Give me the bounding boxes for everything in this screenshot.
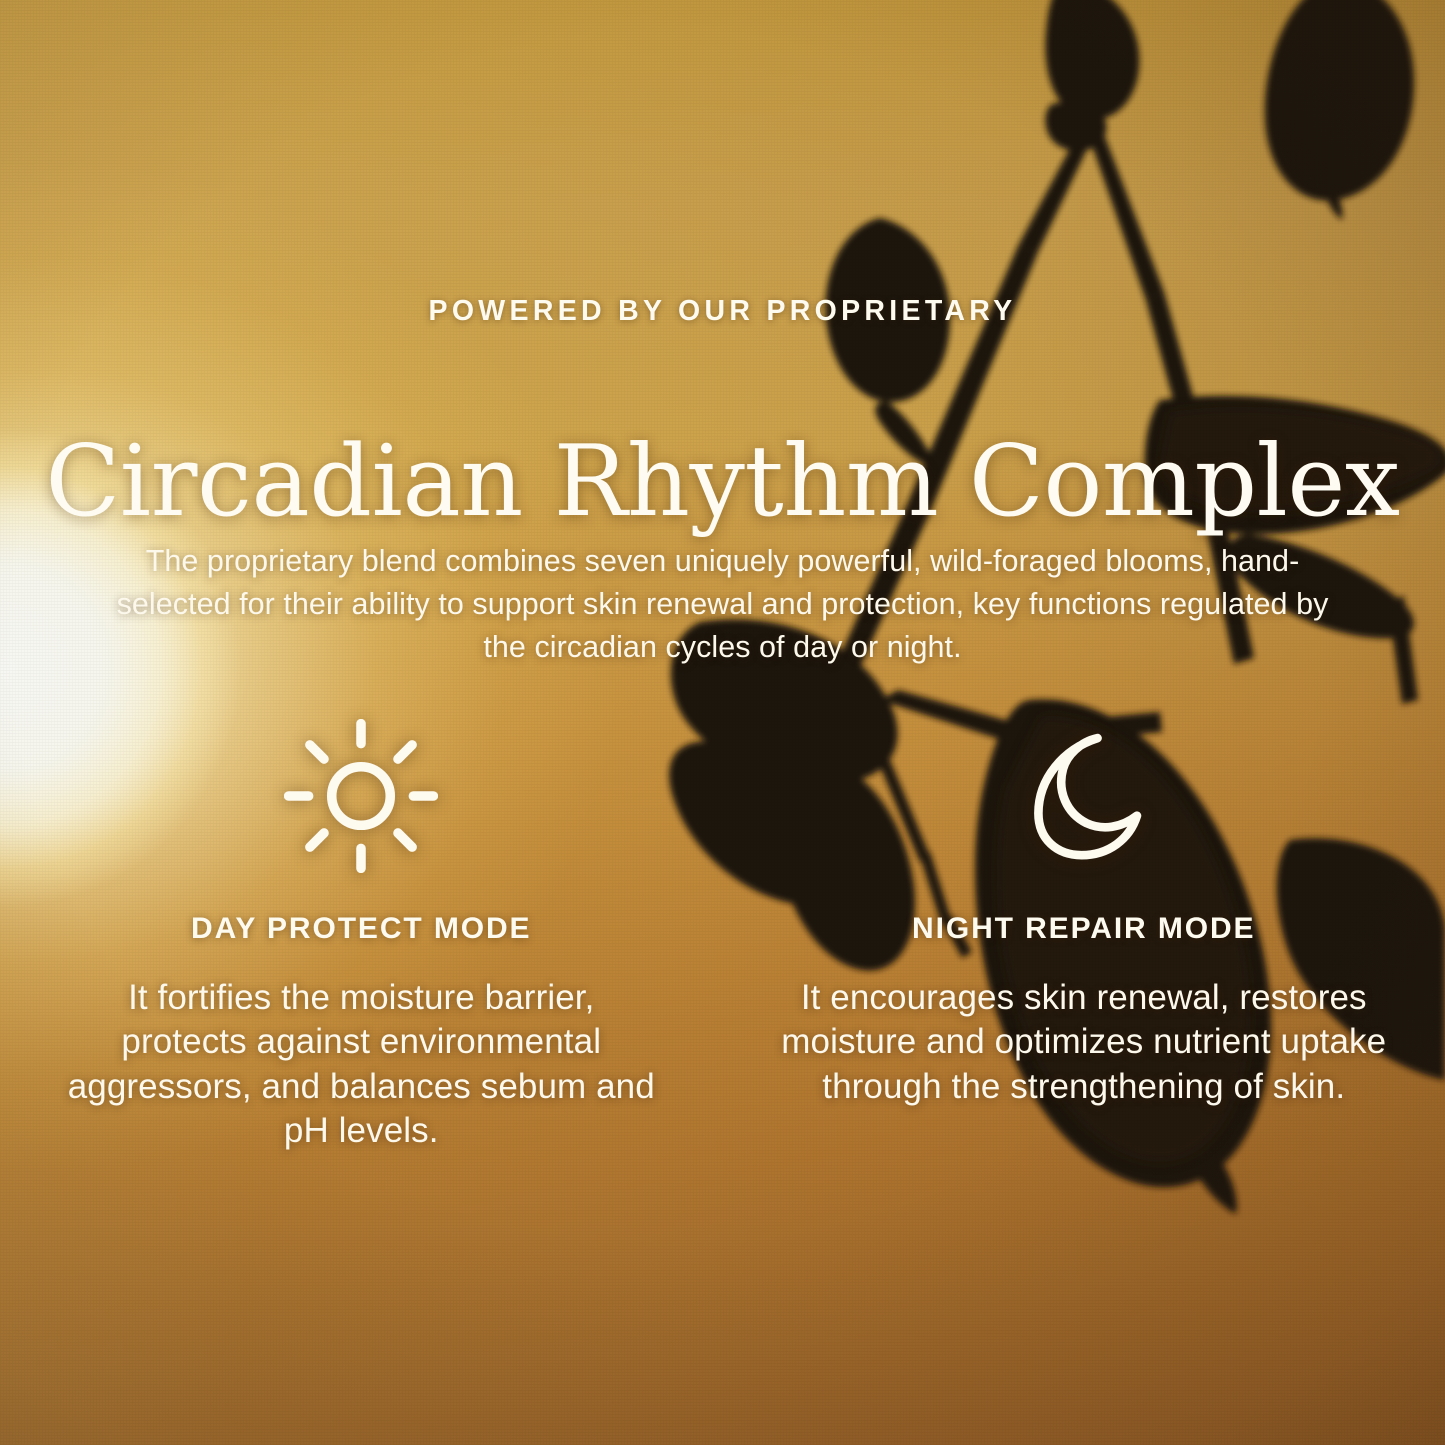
- eyebrow-label: POWERED BY OUR PROPRIETARY: [0, 297, 1445, 326]
- mode-columns: DAY PROTECT MODE It fortifies the moistu…: [0, 726, 1445, 1189]
- mode-title-day: DAY PROTECT MODE: [191, 914, 531, 944]
- intro-paragraph: The proprietary blend combines seven uni…: [110, 540, 1335, 669]
- product-feature-card: POWERED BY OUR PROPRIETARY Circadian Rhy…: [0, 0, 1445, 1445]
- sun-icon: [284, 726, 438, 866]
- mode-body-night: It encourages skin renewal, restores moi…: [779, 976, 1389, 1109]
- moon-icon: [1022, 726, 1146, 866]
- page-title: Circadian Rhythm Complex: [0, 431, 1445, 535]
- day-protect-mode-column: DAY PROTECT MODE It fortifies the moistu…: [0, 726, 723, 1189]
- night-repair-mode-column: NIGHT REPAIR MODE It encourages skin ren…: [723, 726, 1445, 1189]
- mode-body-day: It fortifies the moisture barrier, prote…: [61, 976, 661, 1154]
- mode-title-night: NIGHT REPAIR MODE: [912, 914, 1255, 944]
